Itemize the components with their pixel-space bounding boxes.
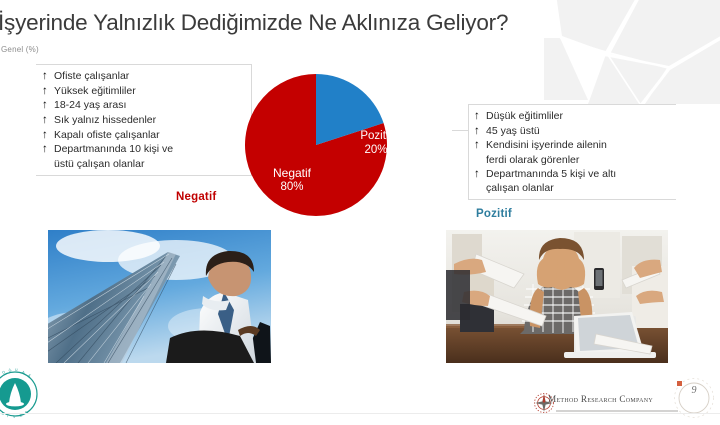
- pie-label-pozitif-value: 20%: [343, 143, 409, 157]
- list-item-label: Ofiste çalışanlar: [54, 70, 248, 84]
- negative-drivers-list: ↑ Ofiste çalışanlar ↑ Yüksek eğitimliler…: [42, 70, 248, 172]
- list-item-label: Kendisini işyerinde ailenin: [486, 139, 674, 153]
- list-item-label: Düşük eğitimliler: [486, 110, 674, 124]
- list-item-label: 18-24 yaş arası: [54, 99, 248, 113]
- list-item: ↑ Departmanında 10 kişi ve: [42, 143, 248, 157]
- list-item: ↑ Departmanında 5 kişi ve altı: [474, 168, 674, 182]
- pie-label-pozitif-name: Pozitif: [343, 129, 409, 143]
- footer-divider: [0, 413, 720, 414]
- list-item-continuation: ferdi olarak görenler: [474, 154, 674, 168]
- list-item-continuation: çalışan olanlar: [474, 182, 674, 196]
- up-arrow-icon: ↑: [42, 70, 54, 84]
- list-item: ↑ 45 yaş üstü: [474, 125, 674, 139]
- up-arrow-icon: ↑: [474, 110, 486, 124]
- svg-text:U: U: [15, 368, 18, 372]
- photo-skyscraper-businessman: [48, 230, 271, 363]
- positive-drivers-list: ↑ Düşük eğitimliler ↑ 45 yaş üstü ↑ Kend…: [474, 110, 674, 196]
- positive-category-label: Pozitif: [476, 208, 512, 220]
- list-item: ↑ Kapalı ofiste çalışanlar: [42, 129, 248, 143]
- list-item-label: 45 yaş üstü: [486, 125, 674, 139]
- list-item: ↑ Kendisini işyerinde ailenin: [474, 139, 674, 153]
- up-arrow-icon: ↑: [474, 139, 486, 153]
- up-arrow-icon: ↑: [474, 125, 486, 139]
- list-item: ↑ Sık yalnız hissedenler: [42, 114, 248, 128]
- list-item-label: Departmanında 5 kişi ve altı: [486, 168, 674, 182]
- svg-text:K: K: [28, 373, 33, 378]
- page-title: İşyerinde Yalnızlık Dediğimizde Ne Aklın…: [0, 10, 598, 36]
- negative-category-label: Negatif: [176, 191, 216, 203]
- list-item-label: Departmanında 10 kişi ve: [54, 143, 248, 157]
- page-number: 9: [672, 385, 716, 396]
- slide-canvas: İşyerinde Yalnızlık Dediğimizde Ne Aklın…: [0, 0, 720, 425]
- list-item: ↑ 18-24 yaş arası: [42, 99, 248, 113]
- list-item: ↑ Yüksek eğitimliler: [42, 85, 248, 99]
- svg-text:Ğ: Ğ: [8, 367, 12, 373]
- brand-name: Method Research Company: [548, 394, 653, 404]
- list-item: ↑ Düşük eğitimliler: [474, 110, 674, 124]
- pie-label-negatif-name: Negatif: [253, 166, 331, 180]
- list-item-label: Kapalı ofiste çalışanlar: [54, 129, 248, 143]
- up-arrow-icon: ↑: [42, 129, 54, 143]
- right-callout-connector: [452, 130, 469, 131]
- pie-label-negatif: Negatif 80%: [253, 166, 331, 194]
- pie-label-negatif-value: 80%: [253, 180, 331, 194]
- up-arrow-icon: ↑: [474, 168, 486, 182]
- list-item-label: Sık yalnız hissedenler: [54, 114, 248, 128]
- pie-label-pozitif: Pozitif 20%: [343, 129, 409, 157]
- up-arrow-icon: ↑: [42, 85, 54, 99]
- list-item-label: Yüksek eğitimliler: [54, 85, 248, 99]
- list-item: ↑ Ofiste çalışanlar: [42, 70, 248, 84]
- up-arrow-icon: ↑: [42, 99, 54, 113]
- up-arrow-icon: ↑: [42, 114, 54, 128]
- photo-stressed-office-worker: [446, 230, 668, 363]
- list-item-continuation: üstü çalışan olanlar: [42, 158, 248, 172]
- up-arrow-icon: ↑: [42, 143, 54, 157]
- page-subtitle: Genel (%): [1, 45, 39, 54]
- university-seal-logo: D O Ğ U A K Ü N İ V E R: [0, 365, 44, 423]
